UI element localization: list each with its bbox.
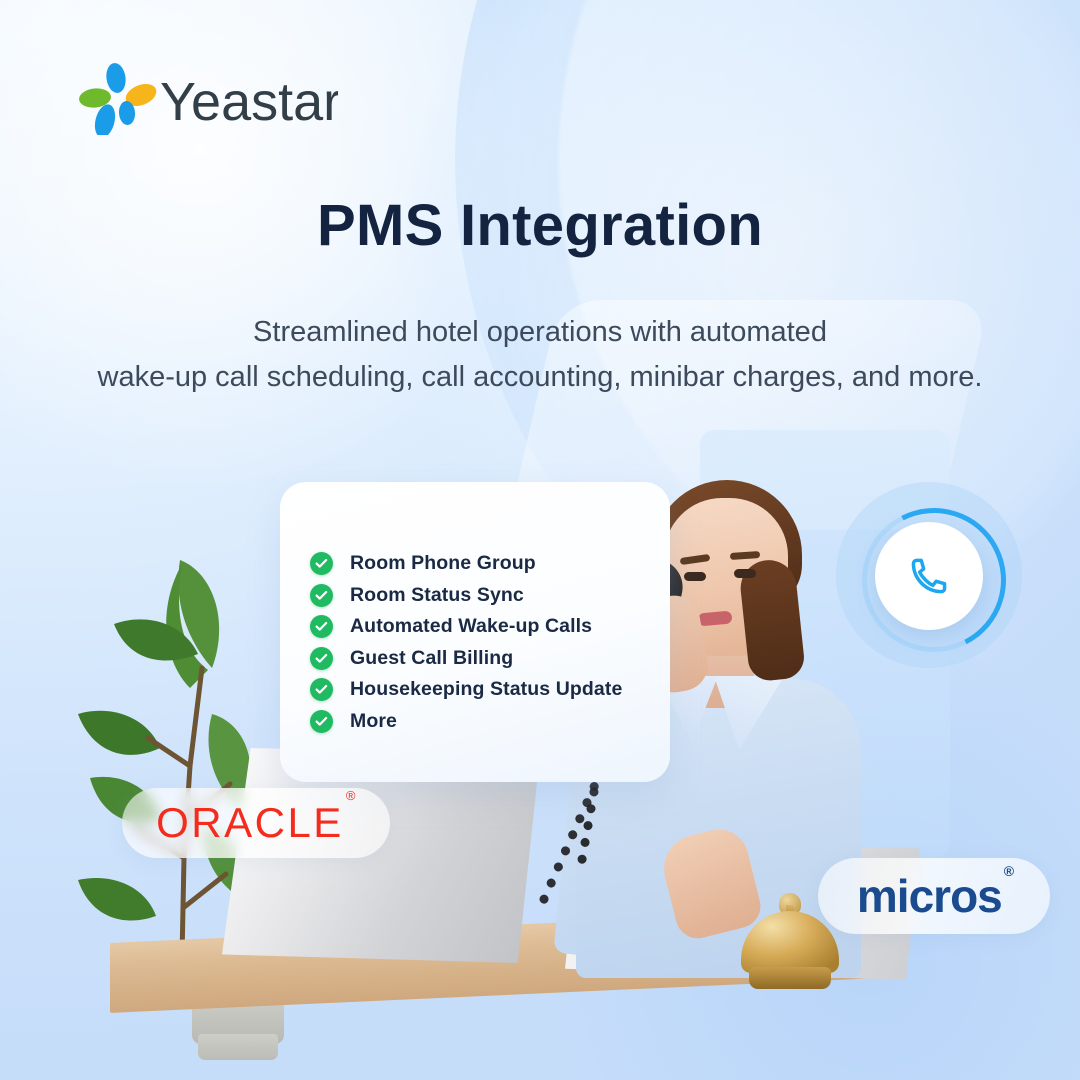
bell-base: [749, 967, 831, 989]
list-item-label: Automated Wake-up Calls: [350, 615, 592, 638]
check-circle-icon: [310, 584, 333, 607]
list-item-label: Room Status Sync: [350, 584, 524, 607]
check-circle-icon: [310, 615, 333, 638]
registered-mark: ®: [346, 788, 358, 803]
list-item-label: More: [350, 710, 397, 733]
list-item-label: Housekeeping Status Update: [350, 678, 622, 701]
page-subtitle: Streamlined hotel operations with automa…: [0, 310, 1080, 400]
check-circle-icon: [310, 678, 333, 701]
person-eye-right: [734, 569, 756, 578]
check-circle-icon: [310, 710, 333, 733]
bell-dome: [741, 911, 839, 973]
hero-illustration: Room Phone Group Room Status Sync Automa…: [0, 430, 1080, 1080]
list-item[interactable]: Room Status Sync: [310, 580, 730, 612]
micros-label: micros: [857, 870, 1002, 922]
subtitle-line-2: wake-up call scheduling, call accounting…: [0, 355, 1080, 400]
plant-leaves-icon: [78, 560, 253, 921]
partner-badge-micros[interactable]: micros®: [818, 858, 1050, 934]
list-item[interactable]: Guest Call Billing: [310, 643, 730, 675]
yeastar-wordmark: Yeastar: [160, 72, 338, 132]
list-item[interactable]: Room Phone Group: [310, 548, 730, 580]
phone-handset-icon: [907, 554, 951, 598]
registered-mark: ®: [1004, 863, 1013, 879]
list-item[interactable]: Automated Wake-up Calls: [310, 611, 730, 643]
poster-canvas: Yeastar PMS Integration Streamlined hote…: [0, 0, 1080, 1080]
page-title: PMS Integration: [0, 196, 1080, 257]
check-circle-icon: [310, 552, 333, 575]
check-circle-icon: [310, 647, 333, 670]
micros-wordmark: micros®: [857, 869, 1011, 923]
list-item[interactable]: Housekeeping Status Update: [310, 674, 730, 706]
partner-badge-oracle[interactable]: ORACLE®: [122, 788, 390, 858]
yeastar-petal-logo: [78, 63, 159, 135]
list-item[interactable]: More: [310, 706, 730, 738]
list-item-label: Guest Call Billing: [350, 647, 513, 670]
list-item-label: Room Phone Group: [350, 552, 536, 575]
oracle-wordmark: ORACLE®: [156, 799, 356, 847]
yeastar-logo[interactable]: Yeastar: [78, 63, 338, 135]
subtitle-line-1: Streamlined hotel operations with automa…: [0, 310, 1080, 355]
feature-list: Room Phone Group Room Status Sync Automa…: [310, 548, 730, 737]
oracle-label: ORACLE: [156, 799, 344, 846]
phone-badge[interactable]: [875, 522, 983, 630]
